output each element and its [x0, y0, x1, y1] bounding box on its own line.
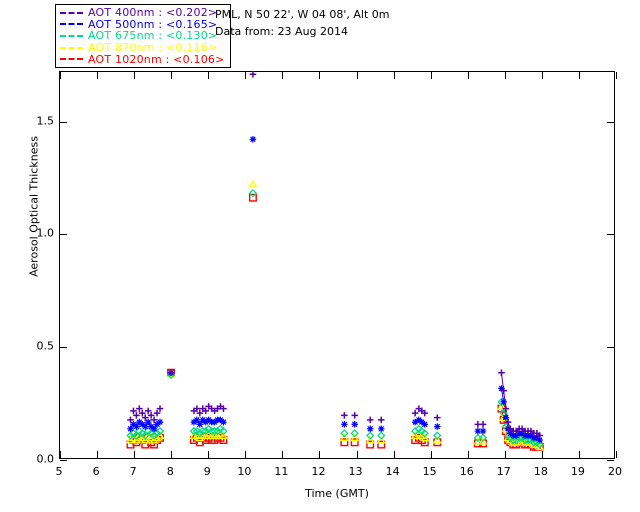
- data-point: [157, 419, 164, 426]
- x-tick-6: [97, 72, 98, 79]
- data-point: [480, 421, 487, 428]
- x-tick-13: [357, 72, 358, 79]
- data-point: [197, 421, 204, 428]
- x-tick-19: [579, 72, 580, 79]
- x-tick-15: [431, 451, 432, 458]
- legend-label-aot-400nm: AOT 400nm : <0.202>: [88, 7, 217, 18]
- data-point: [194, 417, 201, 424]
- data-point: [434, 437, 441, 443]
- legend-item-aot-675nm: AOT 675nm : <0.130>: [60, 30, 225, 42]
- x-tick-label-7: 7: [130, 465, 137, 478]
- legend-item-aot-500nm: AOT 500nm : <0.165>: [60, 19, 225, 31]
- x-tick-18: [542, 72, 543, 79]
- data-point: [142, 423, 149, 430]
- data-point: [434, 414, 441, 421]
- x-tick-14: [394, 72, 395, 79]
- legend-label-aot-500nm: AOT 500nm : <0.165>: [88, 19, 217, 30]
- data-point: [250, 190, 257, 197]
- x-tick-12: [319, 72, 320, 79]
- x-tick-label-5: 5: [56, 465, 63, 478]
- x-tick-label-13: 13: [349, 465, 363, 478]
- y-tick-0.0: [607, 460, 614, 461]
- legend-dash-aot-400nm: [60, 12, 83, 14]
- x-tick-11: [282, 451, 283, 458]
- legend-item-aot-870nm: AOT 870nm : <0.116>: [60, 42, 225, 54]
- legend-dash-aot-1020nm: [60, 58, 83, 60]
- data-point: [434, 423, 441, 430]
- series-markers-aot-400nm: [127, 71, 543, 439]
- series-markers-aot-675nm: [127, 190, 543, 448]
- plot-frame: [59, 71, 615, 459]
- site-title: PML, N 50 22', W 04 08', Alt 0m: [215, 6, 389, 23]
- x-tick-15: [431, 72, 432, 79]
- series-markers-aot-870nm: [127, 181, 543, 450]
- legend-item-aot-1020nm: AOT 1020nm : <0.106>: [60, 53, 225, 65]
- x-tick-17: [505, 72, 506, 79]
- x-tick-5: [60, 72, 61, 79]
- x-tick-label-18: 18: [534, 465, 548, 478]
- x-tick-5: [60, 451, 61, 458]
- legend-label-aot-675nm: AOT 675nm : <0.130>: [88, 30, 217, 41]
- series-markers-aot-500nm: [127, 136, 543, 443]
- x-tick-label-11: 11: [274, 465, 288, 478]
- aot-plot-screenshot: AOT 400nm : <0.202>AOT 500nm : <0.165>AO…: [0, 0, 640, 512]
- x-tick-label-14: 14: [386, 465, 400, 478]
- x-tick-6: [97, 451, 98, 458]
- x-tick-9: [208, 451, 209, 458]
- y-tick-1.5: [607, 122, 614, 123]
- x-axis-title: Time (GMT): [59, 487, 615, 500]
- data-point: [351, 421, 358, 428]
- x-tick-label-6: 6: [93, 465, 100, 478]
- data-point: [412, 410, 419, 417]
- data-point: [500, 399, 507, 406]
- x-tick-16: [468, 72, 469, 79]
- legend-item-aot-400nm: AOT 400nm : <0.202>: [60, 7, 225, 19]
- x-tick-12: [319, 451, 320, 458]
- x-tick-7: [134, 72, 135, 79]
- y-tick-1.0: [60, 234, 67, 235]
- x-tick-18: [542, 451, 543, 458]
- data-point: [250, 71, 257, 78]
- legend-rows: AOT 400nm : <0.202>AOT 500nm : <0.165>AO…: [60, 7, 225, 65]
- legend: AOT 400nm : <0.202>AOT 500nm : <0.165>AO…: [55, 4, 231, 68]
- data-point: [367, 426, 374, 433]
- data-point: [151, 426, 158, 433]
- x-tick-19: [579, 451, 580, 458]
- data-point: [127, 417, 134, 424]
- legend-dash-aot-500nm: [60, 23, 83, 25]
- x-tick-7: [134, 451, 135, 458]
- data-point: [351, 412, 358, 419]
- x-tick-9: [208, 72, 209, 79]
- legend-dash-aot-675nm: [60, 35, 83, 37]
- x-tick-16: [468, 451, 469, 458]
- data-point: [480, 428, 487, 435]
- data-point: [133, 423, 140, 430]
- x-tick-label-10: 10: [237, 465, 251, 478]
- data-point: [127, 426, 134, 433]
- data-point: [250, 136, 257, 143]
- x-tick-label-17: 17: [497, 465, 511, 478]
- y-tick-1.0: [607, 234, 614, 235]
- y-tick-0.0: [60, 460, 67, 461]
- legend-label-aot-1020nm: AOT 1020nm : <0.106>: [88, 54, 225, 65]
- data-point: [341, 421, 348, 428]
- x-tick-label-20: 20: [608, 465, 622, 478]
- data-point: [220, 419, 227, 426]
- legend-label-aot-870nm: AOT 870nm : <0.116>: [88, 42, 217, 53]
- series-markers-aot-1020nm: [127, 194, 543, 450]
- x-tick-8: [171, 451, 172, 458]
- x-tick-8: [171, 72, 172, 79]
- x-tick-10: [245, 72, 246, 79]
- data-point: [250, 181, 257, 187]
- y-tick-1.5: [60, 122, 67, 123]
- x-tick-17: [505, 451, 506, 458]
- y-tick-0.5: [60, 347, 67, 348]
- x-tick-11: [282, 72, 283, 79]
- x-tick-label-16: 16: [460, 465, 474, 478]
- x-tick-label-15: 15: [423, 465, 437, 478]
- y-axis-title: Aerosol Optical Thickness: [28, 77, 41, 337]
- x-tick-14: [394, 451, 395, 458]
- data-point: [378, 426, 385, 433]
- plot-title-block: PML, N 50 22', W 04 08', Alt 0m Data fro…: [215, 6, 389, 40]
- x-tick-20: [616, 451, 617, 458]
- data-point: [498, 369, 505, 376]
- data-point: [250, 194, 257, 201]
- x-tick-label-12: 12: [311, 465, 325, 478]
- x-tick-20: [616, 72, 617, 79]
- y-tick-0.5: [607, 347, 614, 348]
- x-tick-label-9: 9: [204, 465, 211, 478]
- data-point: [341, 412, 348, 419]
- legend-dash-aot-870nm: [60, 47, 83, 49]
- data-point: [421, 421, 428, 428]
- x-tick-10: [245, 451, 246, 458]
- y-tick-label-0.5: 0.5: [23, 340, 54, 353]
- data-date: Data from: 23 Aug 2014: [215, 23, 389, 40]
- data-point: [367, 417, 374, 424]
- x-tick-13: [357, 451, 358, 458]
- x-tick-label-19: 19: [571, 465, 585, 478]
- y-tick-label-0.0: 0.0: [23, 453, 54, 466]
- plot-canvas: [60, 72, 614, 458]
- data-point: [378, 417, 385, 424]
- x-tick-label-8: 8: [167, 465, 174, 478]
